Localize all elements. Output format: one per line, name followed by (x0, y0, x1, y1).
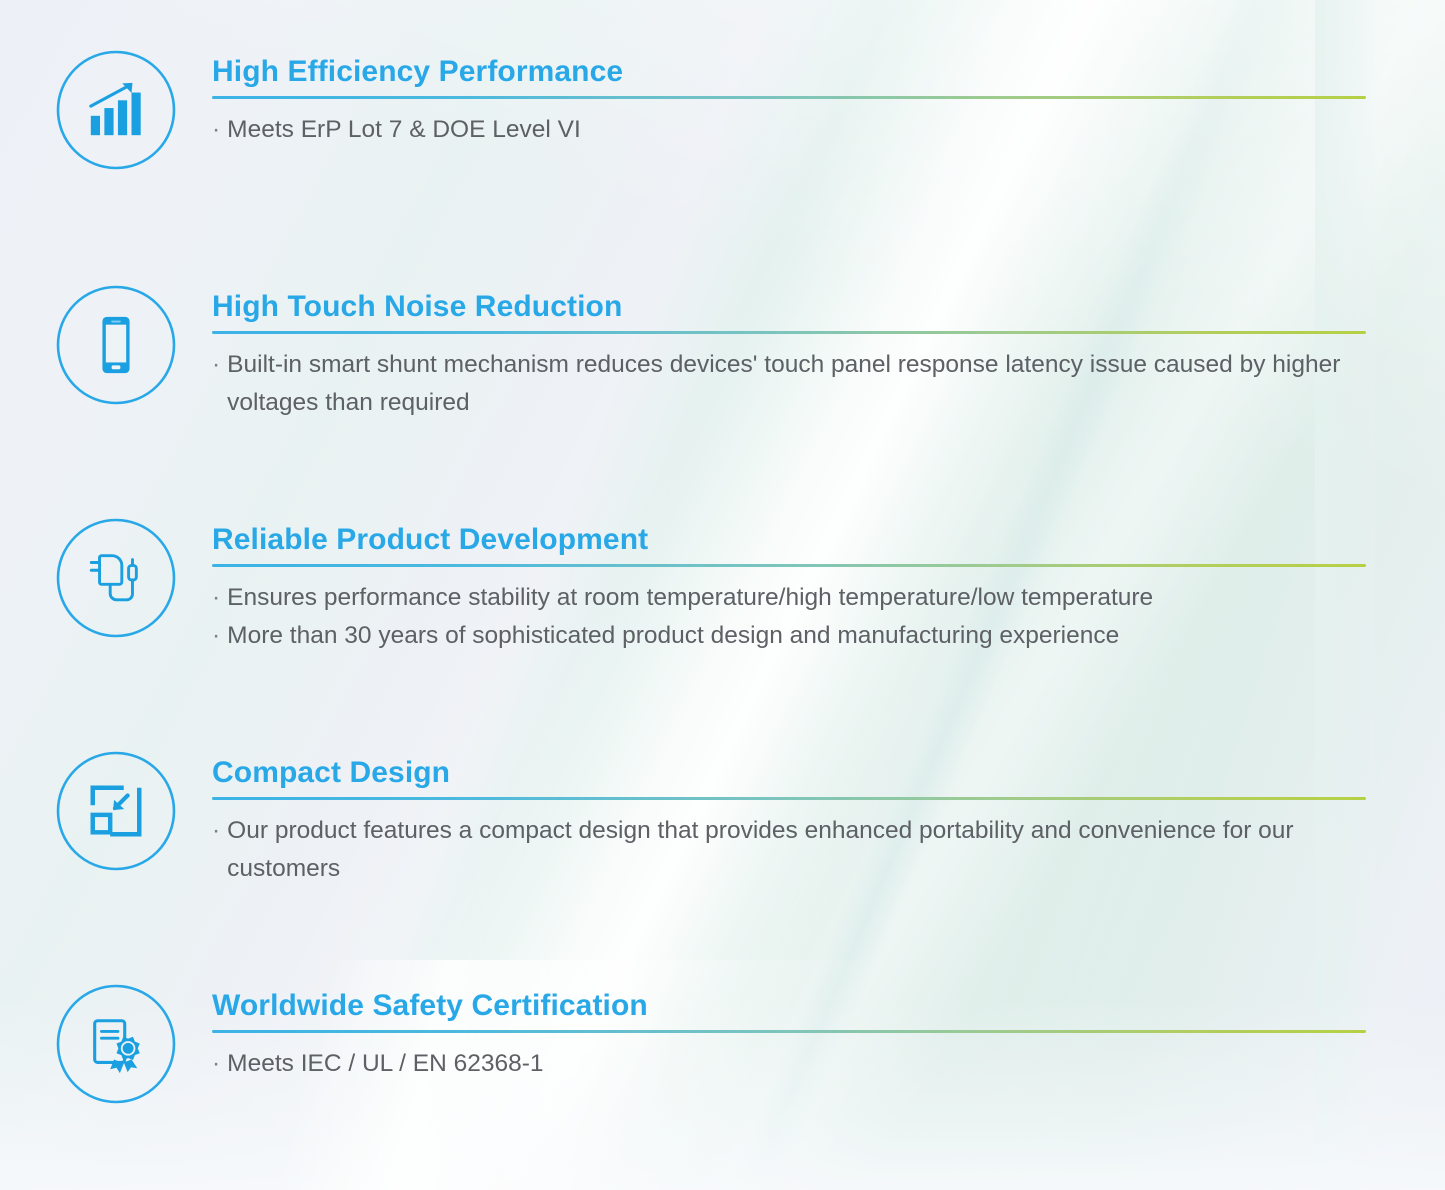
feature-icon-worldwide-safety-certification (55, 983, 177, 1105)
bullet-item: · More than 30 years of sophisticated pr… (212, 617, 1367, 655)
bullet-item: · Meets ErP Lot 7 & DOE Level VI (212, 111, 1367, 149)
feature-text-worldwide-safety-certification: Worldwide Safety Certification · Meets I… (212, 989, 1367, 1083)
feature-divider (212, 331, 1366, 334)
feature-title: Worldwide Safety Certification (212, 989, 1367, 1023)
feature-icon-high-efficiency-performance (55, 49, 177, 171)
feature-divider (212, 1030, 1366, 1033)
feature-text-high-efficiency-performance: High Efficiency Performance · Meets ErP … (212, 55, 1367, 149)
feature-title: Compact Design (212, 756, 1367, 790)
feature-bullets: · Built-in smart shunt mechanism reduces… (212, 346, 1367, 422)
bullet-marker: · (212, 346, 220, 384)
bar-chart-growth-icon (85, 79, 147, 141)
power-adapter-icon (85, 547, 147, 609)
feature-divider (212, 564, 1366, 567)
feature-icon-compact-design (55, 750, 177, 872)
certificate-award-icon (85, 1013, 147, 1075)
bullet-marker: · (212, 579, 220, 617)
feature-divider (212, 96, 1366, 99)
feature-list-page: High Efficiency Performance · Meets ErP … (0, 0, 1445, 1190)
feature-text-high-touch-noise-reduction: High Touch Noise Reduction · Built-in sm… (212, 290, 1367, 422)
feature-text-reliable-product-development: Reliable Product Development · Ensures p… (212, 523, 1367, 655)
bullet-item: · Meets IEC / UL / EN 62368-1 (212, 1045, 1367, 1083)
feature-bullets: · Ensures performance stability at room … (212, 579, 1367, 655)
bullet-marker: · (212, 617, 220, 655)
bullet-marker: · (212, 1045, 220, 1083)
resize-shrink-icon (85, 780, 147, 842)
feature-text-compact-design: Compact Design · Our product features a … (212, 756, 1367, 888)
bullet-text: Meets ErP Lot 7 & DOE Level VI (227, 111, 581, 149)
bullet-marker: · (212, 111, 220, 149)
bullet-item: · Ensures performance stability at room … (212, 579, 1367, 617)
feature-title: High Efficiency Performance (212, 55, 1367, 89)
bullet-text: Our product features a compact design th… (227, 812, 1367, 888)
features-content: High Efficiency Performance · Meets ErP … (0, 0, 1445, 1190)
bullet-item: · Our product features a compact design … (212, 812, 1367, 888)
bullet-text: Built-in smart shunt mechanism reduces d… (227, 346, 1367, 422)
feature-divider (212, 797, 1366, 800)
feature-bullets: · Meets ErP Lot 7 & DOE Level VI (212, 111, 1367, 149)
feature-icon-reliable-product-development (55, 517, 177, 639)
feature-icon-high-touch-noise-reduction (55, 284, 177, 406)
bullet-text: Meets IEC / UL / EN 62368-1 (227, 1045, 543, 1083)
smartphone-icon (85, 314, 147, 376)
feature-title: High Touch Noise Reduction (212, 290, 1367, 324)
bullet-item: · Built-in smart shunt mechanism reduces… (212, 346, 1367, 422)
feature-bullets: · Our product features a compact design … (212, 812, 1367, 888)
feature-bullets: · Meets IEC / UL / EN 62368-1 (212, 1045, 1367, 1083)
bullet-marker: · (212, 812, 220, 850)
feature-title: Reliable Product Development (212, 523, 1367, 557)
bullet-text: Ensures performance stability at room te… (227, 579, 1153, 617)
bullet-text: More than 30 years of sophisticated prod… (227, 617, 1119, 655)
